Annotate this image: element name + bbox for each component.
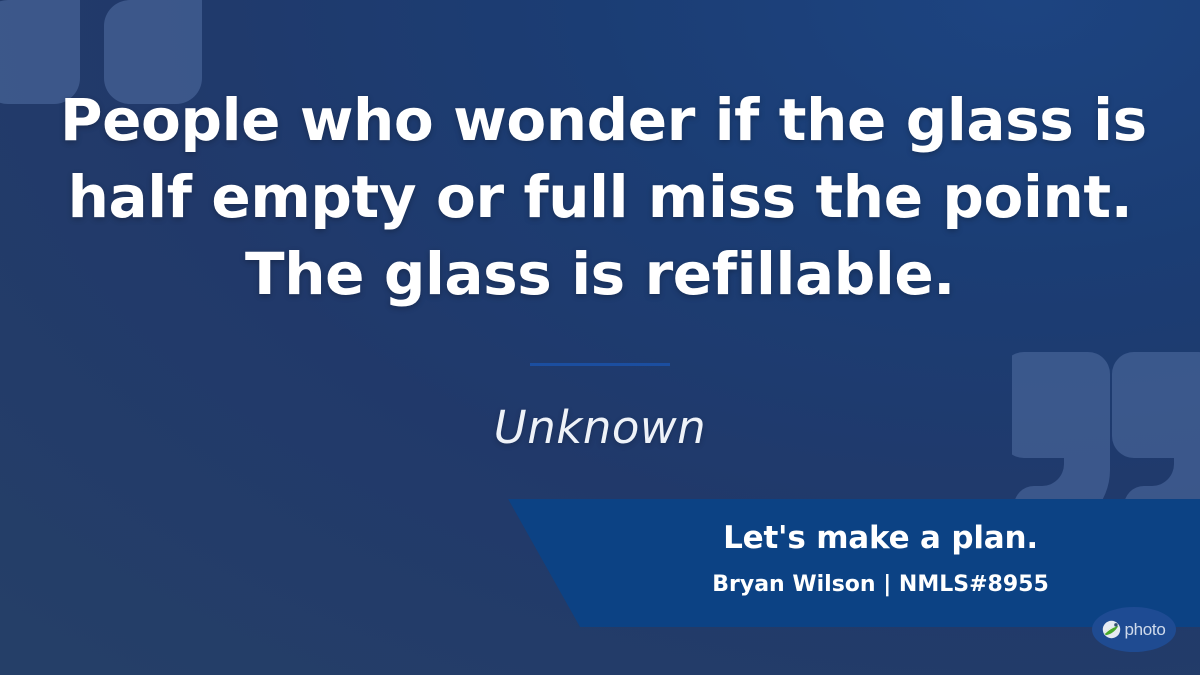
watermark-label: photo (1124, 621, 1165, 638)
cta-title: Let's make a plan. (505, 518, 1200, 558)
divider-rule (530, 363, 670, 366)
quote-line-3: The glass is refillable. (60, 236, 1140, 313)
quote-graphic-card: People who wonder if the glass is half e… (0, 0, 1200, 675)
cta-banner[interactable]: Let's make a plan. Bryan Wilson | NMLS#8… (505, 499, 1200, 627)
cta-agent-line: Bryan Wilson | NMLS#8955 (505, 570, 1200, 600)
quote-line-1: People who wonder if the glass is (60, 82, 1140, 159)
photo-swoosh-icon (1102, 620, 1121, 639)
watermark-badge: photo (1092, 607, 1176, 652)
quote-text-block: People who wonder if the glass is half e… (0, 82, 1200, 313)
quote-line-2: half empty or full miss the point. (60, 159, 1140, 236)
quote-attribution: Unknown (0, 400, 1200, 456)
